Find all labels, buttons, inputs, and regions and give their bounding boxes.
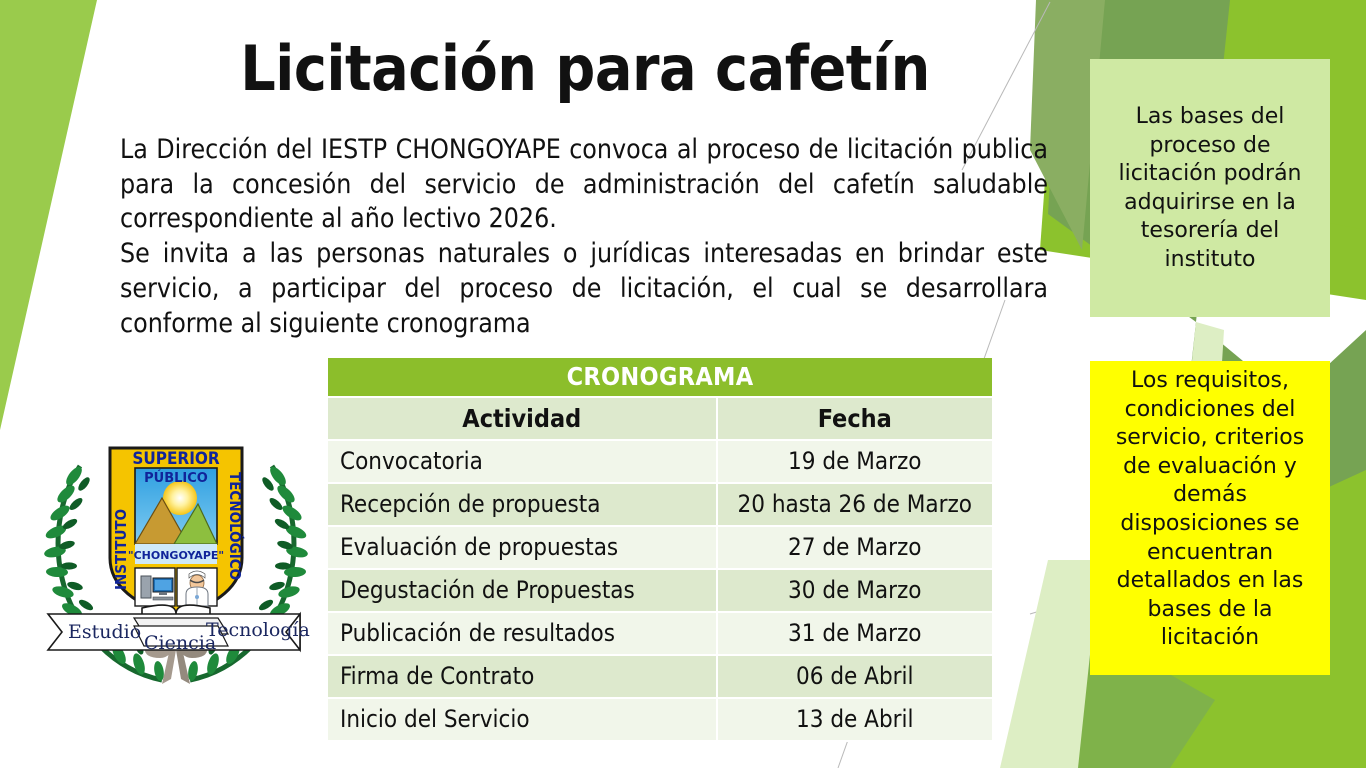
column-header-actividad: Actividad	[328, 398, 718, 441]
cell-fecha: 06 de Abril	[718, 656, 992, 699]
callout-requisitos-info: Los requisitos, condiciones del servicio…	[1090, 361, 1330, 675]
table-row: Degustación de Propuestas 30 de Marzo	[328, 570, 992, 613]
left-green-wedge	[0, 0, 97, 430]
table-title-row: CRONOGRAMA	[328, 358, 992, 398]
table-title-cell: CRONOGRAMA	[328, 358, 992, 398]
cell-actividad: Publicación de resultados	[328, 613, 718, 656]
column-header-fecha: Fecha	[718, 398, 992, 441]
cell-fecha: 30 de Marzo	[718, 570, 992, 613]
cell-actividad: Firma de Contrato	[328, 656, 718, 699]
body-paragraph-2: Se invita a las personas naturales o jur…	[120, 237, 1048, 341]
motto-ribbon: Estudio Ciencia Tecnología	[48, 614, 310, 654]
cell-fecha: 31 de Marzo	[718, 613, 992, 656]
cell-fecha: 20 hasta 26 de Marzo	[718, 484, 992, 527]
cell-fecha: 27 de Marzo	[718, 527, 992, 570]
table-row: Convocatoria 19 de Marzo	[328, 441, 992, 484]
cell-actividad: Recepción de propuesta	[328, 484, 718, 527]
table-row: Evaluación de propuestas 27 de Marzo	[328, 527, 992, 570]
table-row: Publicación de resultados 31 de Marzo	[328, 613, 992, 656]
callout-bases-info: Las bases del proceso de licitación podr…	[1090, 59, 1330, 317]
shield-crest-icon: PÚBLICO "CHONGOYAPE" SUPERIOR INSTITUTO …	[110, 448, 245, 624]
shield-top-text: SUPERIOR	[132, 449, 220, 469]
bottom-right-pale-shape	[1000, 560, 1100, 768]
cronograma-table: CRONOGRAMA Actividad Fecha Convocatoria …	[328, 358, 992, 742]
cell-actividad: Convocatoria	[328, 441, 718, 484]
table-header-row: Actividad Fecha	[328, 398, 992, 441]
page-title: Licitación para cafetín	[120, 36, 1050, 101]
table-row: Inicio del Servicio 13 de Abril	[328, 699, 992, 742]
cell-fecha: 19 de Marzo	[718, 441, 992, 484]
shield-right-text: TECNOLÓGICO	[226, 472, 245, 580]
ribbon-text-estudio: Estudio	[68, 621, 141, 643]
institute-logo: PÚBLICO "CHONGOYAPE" SUPERIOR INSTITUTO …	[38, 418, 314, 694]
body-paragraph-1: La Dirección del IESTP CHONGOYAPE convoc…	[120, 133, 1048, 237]
nurse-icon	[186, 571, 208, 606]
shield-center-text: PÚBLICO	[144, 470, 208, 486]
body-text-block: La Dirección del IESTP CHONGOYAPE convoc…	[120, 133, 1048, 341]
shield-place-text: "CHONGOYAPE"	[128, 549, 224, 562]
cell-fecha: 13 de Abril	[718, 699, 992, 742]
ribbon-text-tecnologia: Tecnología	[206, 619, 310, 641]
table-row: Firma de Contrato 06 de Abril	[328, 656, 992, 699]
shield-left-text: INSTITUTO	[112, 509, 130, 590]
cell-actividad: Inicio del Servicio	[328, 699, 718, 742]
table-row: Recepción de propuesta 20 hasta 26 de Ma…	[328, 484, 992, 527]
cell-actividad: Degustación de Propuestas	[328, 570, 718, 613]
cell-actividad: Evaluación de propuestas	[328, 527, 718, 570]
